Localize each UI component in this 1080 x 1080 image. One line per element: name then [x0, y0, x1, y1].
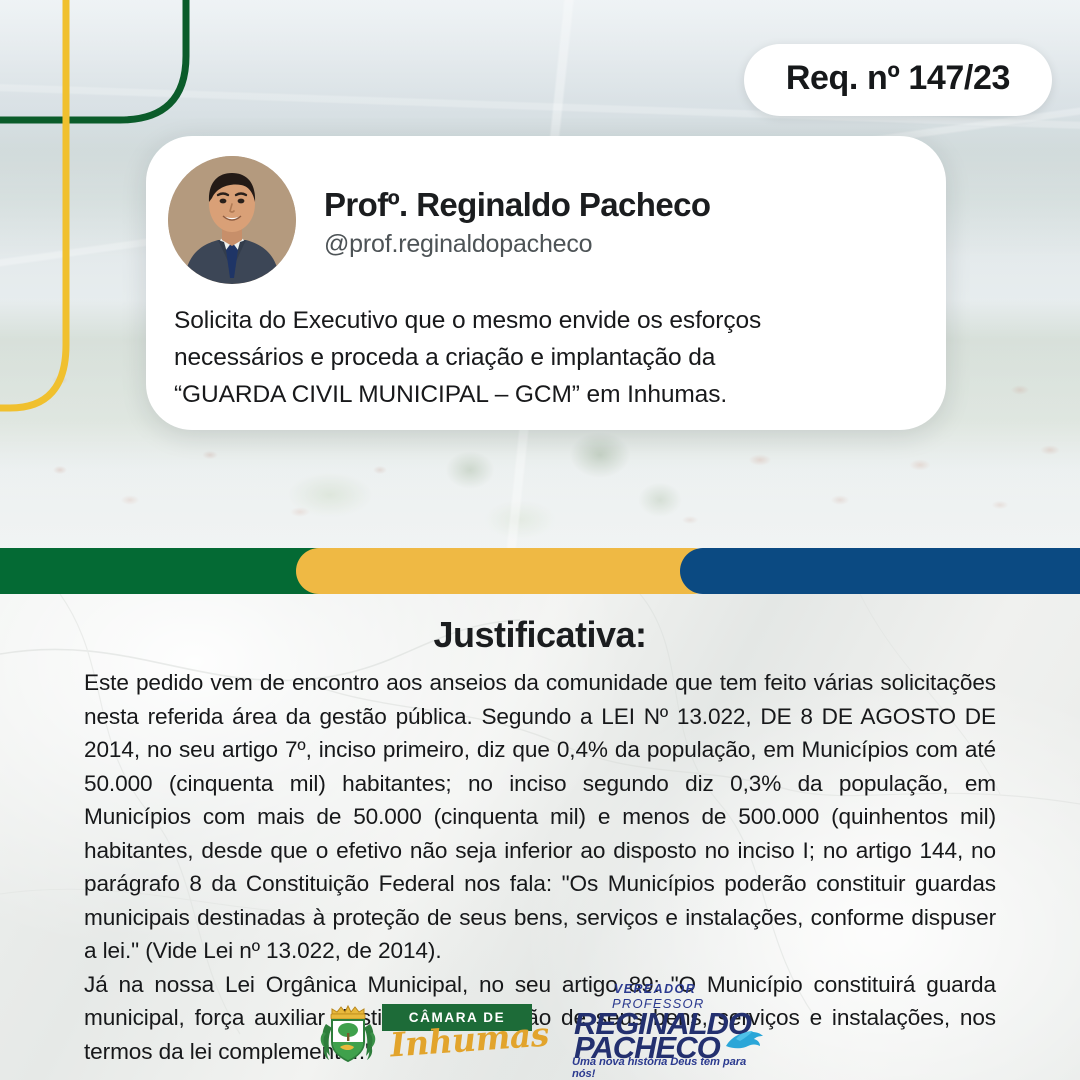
camara-wordmark: CÂMARA DE Inhumas — [382, 1000, 532, 1066]
yellow-corner-line — [0, 0, 66, 408]
request-text-line-3: “GUARDA CIVIL MUNICIPAL – GCM” em Inhuma… — [174, 376, 920, 413]
divider-blue-segment — [680, 548, 1080, 594]
request-number-label: Req. nº 147/23 — [786, 59, 1010, 97]
author-name: Profº. Reginaldo Pacheco — [324, 187, 710, 223]
vereador-pacheco-logo: VEREADOR PROFESSOR REGINALDO PACHECO Uma… — [566, 982, 762, 1066]
request-text-line-1: Solicita do Executivo que o mesmo envide… — [174, 302, 920, 339]
divider-yellow-segment — [296, 548, 716, 594]
request-card: Profº. Reginaldo Pacheco @prof.reginaldo… — [146, 136, 946, 430]
request-text-line-2: necessários e proceda a criação e implan… — [174, 339, 920, 376]
inhumas-coat-of-arms-icon — [318, 1000, 378, 1066]
card-header: Profº. Reginaldo Pacheco @prof.reginaldo… — [168, 156, 710, 284]
justification-title: Justificativa: — [0, 614, 1080, 656]
request-number-badge: Req. nº 147/23 — [744, 44, 1052, 116]
justification-section: Justificativa: Este pedido vem de encont… — [0, 594, 1080, 1080]
poster-root: Req. nº 147/23 — [0, 0, 1080, 1080]
justification-paragraph-1: Este pedido vem de encontro aos anseios … — [84, 666, 996, 968]
author-handle: @prof.reginaldopacheco — [324, 230, 710, 259]
identity-block: Profº. Reginaldo Pacheco @prof.reginaldo… — [324, 181, 710, 259]
campaign-tagline: Uma nova história Deus tem para nós! — [572, 1056, 762, 1080]
dove-icon — [722, 1026, 766, 1056]
tricolor-divider — [0, 548, 1080, 594]
vereador-label: VEREADOR — [614, 982, 696, 996]
green-corner-line — [0, 0, 186, 120]
request-text: Solicita do Executivo que o mesmo envide… — [174, 302, 920, 414]
portrait-photo-icon — [168, 156, 296, 284]
camara-inhumas-logo: CÂMARA DE Inhumas — [318, 1000, 532, 1066]
avatar — [168, 156, 296, 284]
footer-logos: CÂMARA DE Inhumas VEREADOR PROFESSOR REG… — [0, 982, 1080, 1066]
